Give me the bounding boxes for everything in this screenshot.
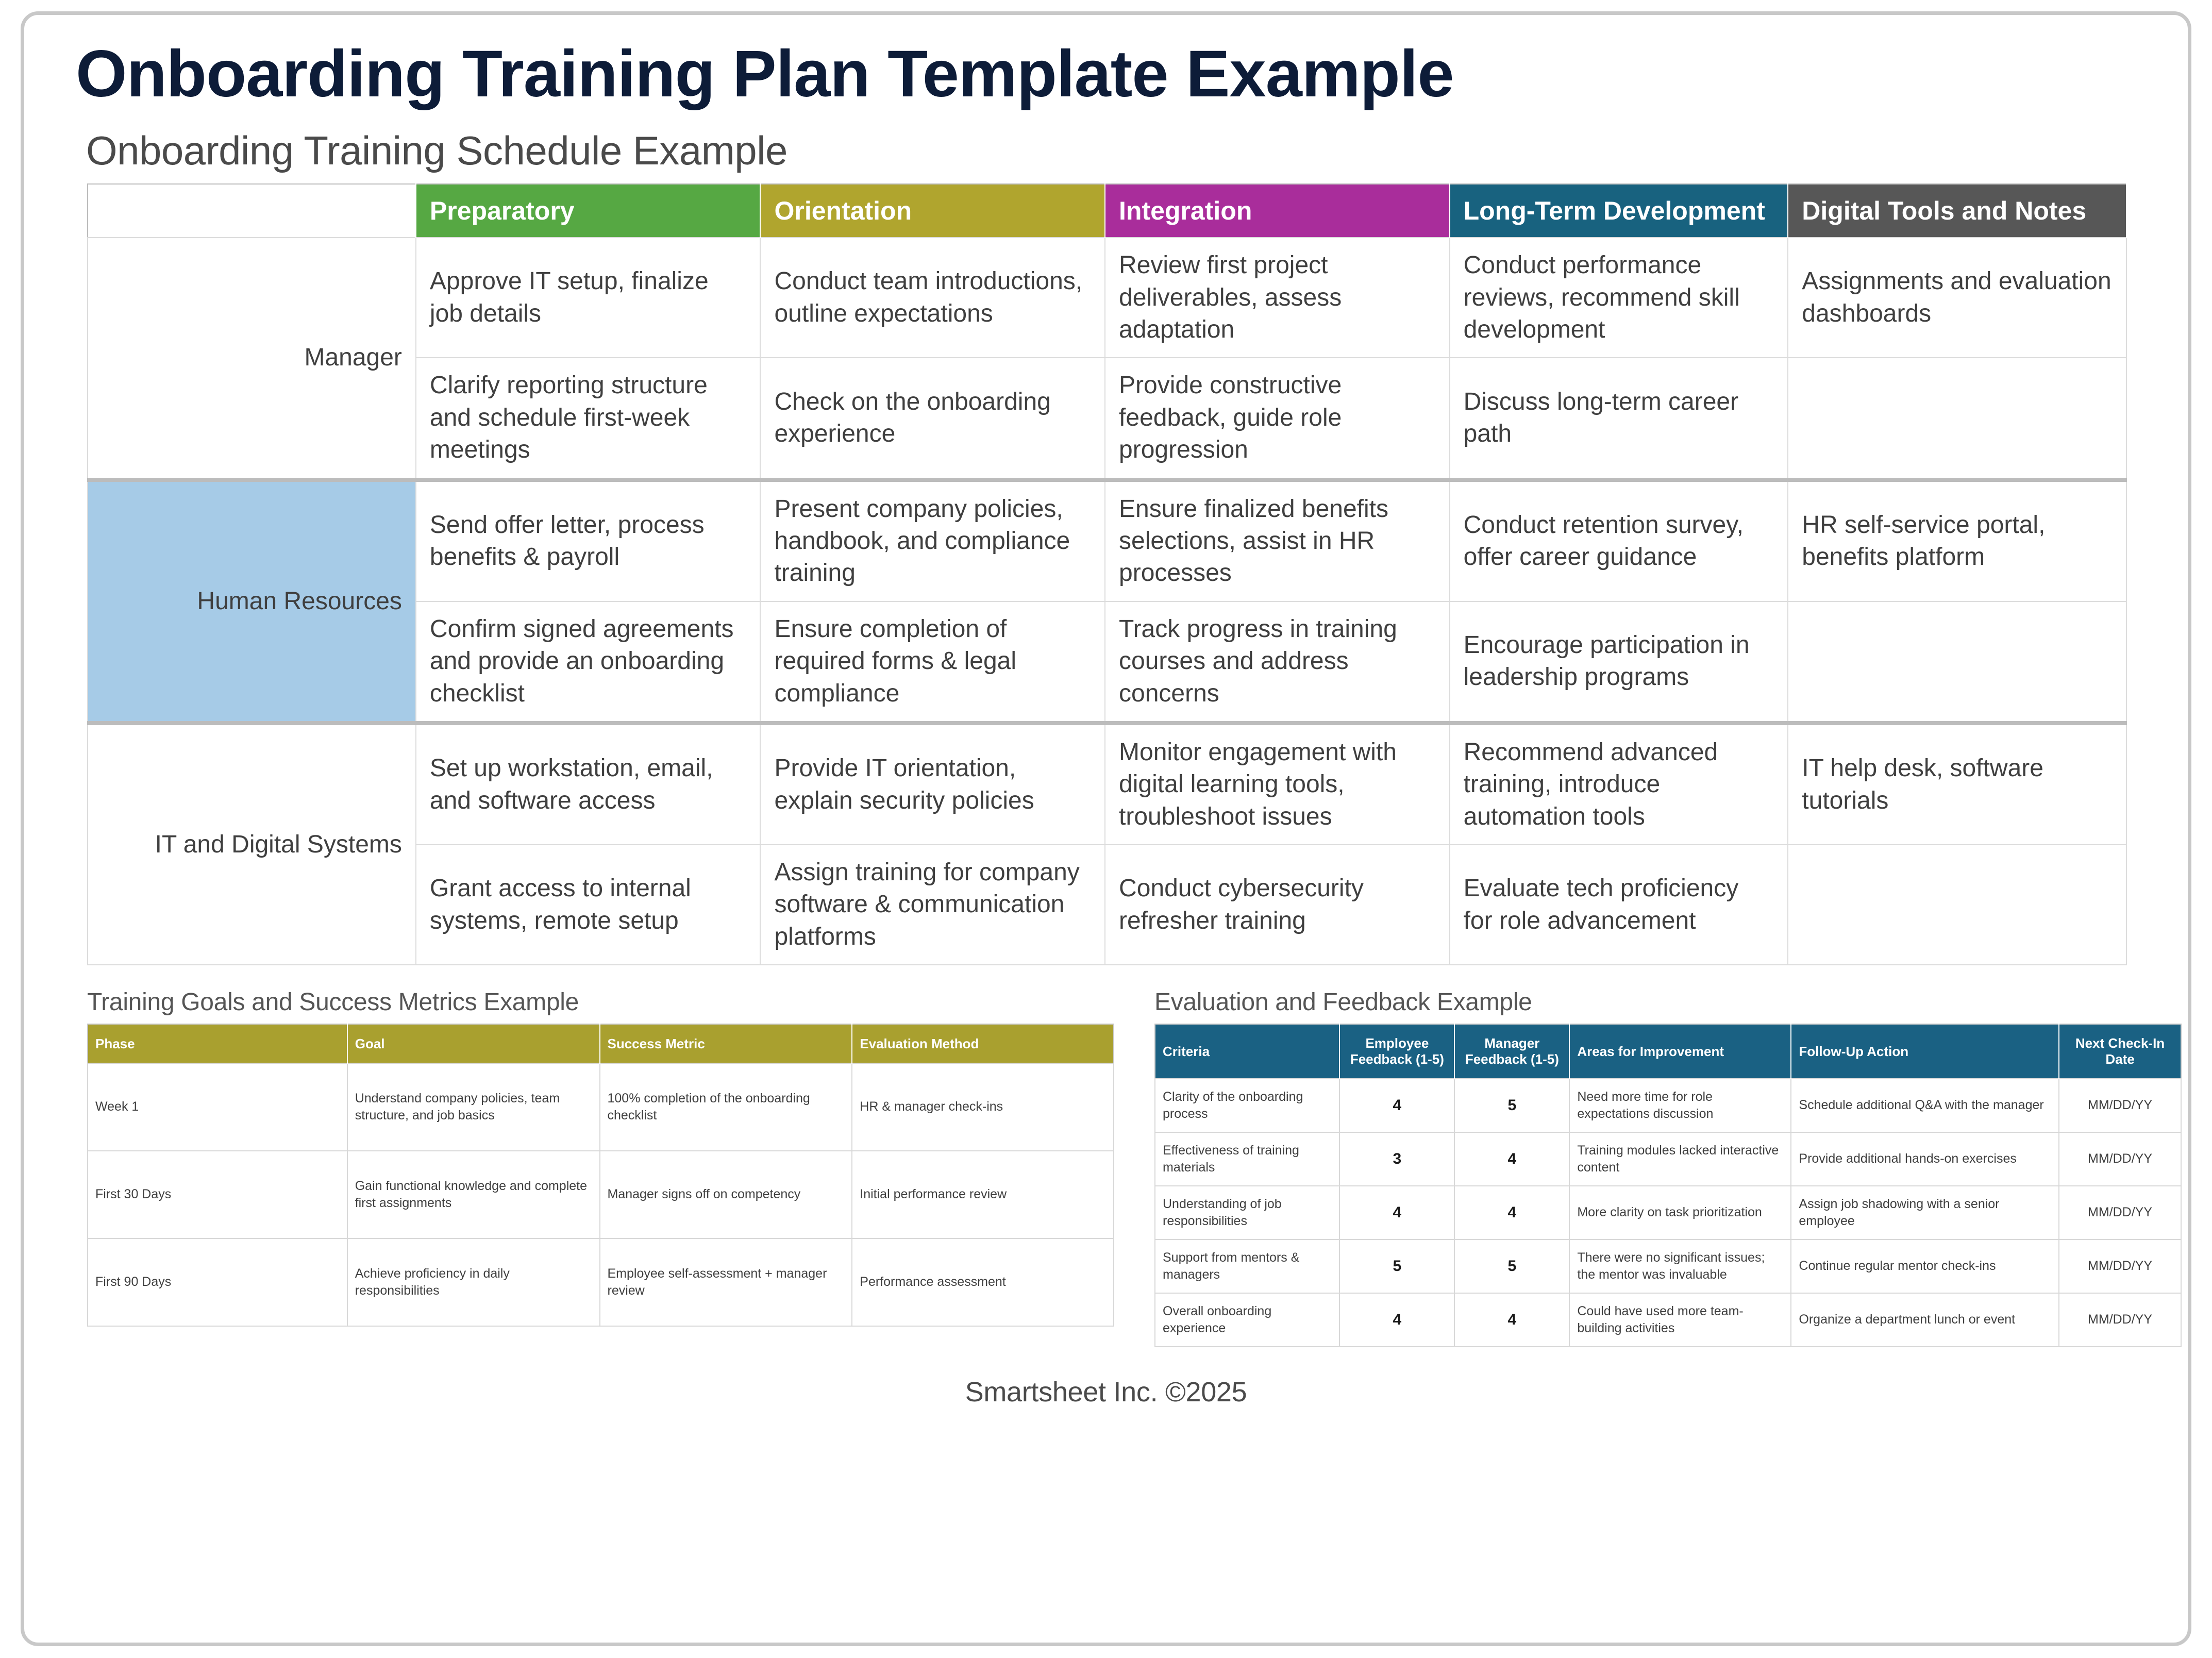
table-row: Week 1 Understand company policies, team…: [88, 1063, 1114, 1151]
cell-method: Performance assessment: [852, 1238, 1114, 1326]
column-header-process: Process / Monitor: [88, 184, 416, 238]
column-header-phase: Phase: [88, 1024, 347, 1063]
cell-digital: [1788, 845, 2126, 965]
table-row: Effectiveness of training materials 3 4 …: [1155, 1132, 2181, 1186]
table-row: IT and Digital Systems Set up workstatio…: [88, 723, 2126, 845]
cell-digital: Assignments and evaluation dashboards: [1788, 238, 2126, 358]
cell-manager-score: 4: [1454, 1186, 1569, 1240]
cell-digital: [1788, 358, 2126, 479]
table-row: Human Resources Send offer letter, proce…: [88, 480, 2126, 601]
cell-integration: Track progress in training courses and a…: [1105, 601, 1450, 723]
table-row: First 90 Days Achieve proficiency in dai…: [88, 1238, 1114, 1326]
cell-orientation: Conduct team introductions, outline expe…: [760, 238, 1105, 358]
cell-criteria: Overall onboarding experience: [1155, 1293, 1339, 1347]
column-header-areas-for-improvement: Areas for Improvement: [1569, 1024, 1791, 1079]
column-header-manager-feedback: Manager Feedback (1-5): [1454, 1024, 1569, 1079]
table-row: Manager Approve IT setup, finalize job d…: [88, 238, 2126, 358]
cell-orientation: Check on the onboarding experience: [760, 358, 1105, 479]
cell-integration: Review first project deliverables, asses…: [1105, 238, 1450, 358]
training-goals-table: Phase Goal Success Metric Evaluation Met…: [87, 1024, 1114, 1327]
goals-header-row: Phase Goal Success Metric Evaluation Met…: [88, 1024, 1114, 1063]
cell-preparatory: Set up workstation, email, and software …: [416, 723, 761, 845]
cell-manager-score: 4: [1454, 1293, 1569, 1347]
cell-preparatory: Clarify reporting structure and schedule…: [416, 358, 761, 479]
column-header-integration: Integration: [1105, 184, 1450, 238]
cell-next-check-in-date: MM/DD/YY: [2059, 1240, 2181, 1293]
column-header-follow-up-action: Follow-Up Action: [1791, 1024, 2059, 1079]
evaluation-feedback-table: Criteria Employee Feedback (1-5) Manager…: [1154, 1024, 2182, 1347]
evaluation-caption: Evaluation and Feedback Example: [1154, 988, 2182, 1024]
cell-digital: IT help desk, software tutorials: [1788, 723, 2126, 845]
cell-orientation: Present company policies, handbook, and …: [760, 480, 1105, 601]
page-frame: Onboarding Training Plan Template Exampl…: [21, 11, 2191, 1646]
cell-phase: Week 1: [88, 1063, 347, 1151]
cell-employee-score: 4: [1339, 1186, 1454, 1240]
schedule-table-wrapper: Process / Monitor Preparatory Orientatio…: [50, 183, 2162, 965]
cell-manager-score: 4: [1454, 1132, 1569, 1186]
cell-long-term: Discuss long-term career path: [1450, 358, 1788, 479]
cell-criteria: Understanding of job responsibilities: [1155, 1186, 1339, 1240]
cell-integration: Provide constructive feedback, guide rol…: [1105, 358, 1450, 479]
cell-goal: Achieve proficiency in daily responsibil…: [347, 1238, 600, 1326]
column-header-criteria: Criteria: [1155, 1024, 1339, 1079]
cell-long-term: Encourage participation in leadership pr…: [1450, 601, 1788, 723]
cell-method: HR & manager check-ins: [852, 1063, 1114, 1151]
cell-improvement: Training modules lacked interactive cont…: [1569, 1132, 1791, 1186]
table-row: Support from mentors & managers 5 5 Ther…: [1155, 1240, 2181, 1293]
cell-next-check-in-date: MM/DD/YY: [2059, 1186, 2181, 1240]
cell-goal: Understand company policies, team struct…: [347, 1063, 600, 1151]
cell-metric: 100% completion of the onboarding checkl…: [600, 1063, 852, 1151]
cell-improvement: More clarity on task prioritization: [1569, 1186, 1791, 1240]
cell-goal: Gain functional knowledge and complete f…: [347, 1151, 600, 1238]
group-label-manager: Manager: [88, 238, 416, 479]
table-row: Overall onboarding experience 4 4 Could …: [1155, 1293, 2181, 1347]
column-header-orientation: Orientation: [760, 184, 1105, 238]
cell-phase: First 30 Days: [88, 1151, 347, 1238]
cell-digital: HR self-service portal, benefits platfor…: [1788, 480, 2126, 601]
cell-employee-score: 4: [1339, 1293, 1454, 1347]
schedule-header-row: Process / Monitor Preparatory Orientatio…: [88, 184, 2126, 238]
cell-preparatory: Confirm signed agreements and provide an…: [416, 601, 761, 723]
page-content: Onboarding Training Plan Template Exampl…: [24, 15, 2188, 1643]
cell-followup: Schedule additional Q&A with the manager: [1791, 1079, 2059, 1132]
cell-orientation: Provide IT orientation, explain security…: [760, 723, 1105, 845]
footer-copyright: Smartsheet Inc. ©2025: [50, 1347, 2162, 1408]
cell-next-check-in-date: MM/DD/YY: [2059, 1132, 2181, 1186]
cell-next-check-in-date: MM/DD/YY: [2059, 1293, 2181, 1347]
onboarding-schedule-table: Process / Monitor Preparatory Orientatio…: [87, 183, 2127, 965]
group-label-it-and-digital-systems: IT and Digital Systems: [88, 723, 416, 965]
cell-followup: Provide additional hands-on exercises: [1791, 1132, 2059, 1186]
column-header-evaluation-method: Evaluation Method: [852, 1024, 1114, 1063]
cell-criteria: Clarity of the onboarding process: [1155, 1079, 1339, 1132]
goals-caption: Training Goals and Success Metrics Examp…: [87, 988, 1114, 1024]
cell-long-term: Conduct retention survey, offer career g…: [1450, 480, 1788, 601]
evaluation-feedback-section: Evaluation and Feedback Example Criteria…: [1154, 988, 2182, 1347]
cell-preparatory: Approve IT setup, finalize job details: [416, 238, 761, 358]
cell-long-term: Evaluate tech proficiency for role advan…: [1450, 845, 1788, 965]
cell-employee-score: 4: [1339, 1079, 1454, 1132]
cell-improvement: There were no significant issues; the me…: [1569, 1240, 1791, 1293]
cell-method: Initial performance review: [852, 1151, 1114, 1238]
cell-manager-score: 5: [1454, 1079, 1569, 1132]
cell-followup: Organize a department lunch or event: [1791, 1293, 2059, 1347]
cell-improvement: Need more time for role expectations dis…: [1569, 1079, 1791, 1132]
cell-integration: Conduct cybersecurity refresher training: [1105, 845, 1450, 965]
column-header-goal: Goal: [347, 1024, 600, 1063]
cell-digital: [1788, 601, 2126, 723]
group-label-human-resources: Human Resources: [88, 480, 416, 723]
schedule-caption: Onboarding Training Schedule Example: [50, 110, 2162, 183]
cell-long-term: Conduct performance reviews, recommend s…: [1450, 238, 1788, 358]
table-row: First 30 Days Gain functional knowledge …: [88, 1151, 1114, 1238]
cell-integration: Monitor engagement with digital learning…: [1105, 723, 1450, 845]
bottom-tables-row: Training Goals and Success Metrics Examp…: [50, 965, 2162, 1347]
cell-improvement: Could have used more team-building activ…: [1569, 1293, 1791, 1347]
cell-followup: Assign job shadowing with a senior emplo…: [1791, 1186, 2059, 1240]
cell-phase: First 90 Days: [88, 1238, 347, 1326]
cell-preparatory: Grant access to internal systems, remote…: [416, 845, 761, 965]
cell-criteria: Effectiveness of training materials: [1155, 1132, 1339, 1186]
evaluation-header-row: Criteria Employee Feedback (1-5) Manager…: [1155, 1024, 2181, 1079]
column-header-next-check-in-date: Next Check-In Date: [2059, 1024, 2181, 1079]
cell-metric: Employee self-assessment + manager revie…: [600, 1238, 852, 1326]
cell-orientation: Ensure completion of required forms & le…: [760, 601, 1105, 723]
cell-employee-score: 3: [1339, 1132, 1454, 1186]
cell-long-term: Recommend advanced training, introduce a…: [1450, 723, 1788, 845]
column-header-success-metric: Success Metric: [600, 1024, 852, 1063]
cell-manager-score: 5: [1454, 1240, 1569, 1293]
table-row: Clarity of the onboarding process 4 5 Ne…: [1155, 1079, 2181, 1132]
cell-criteria: Support from mentors & managers: [1155, 1240, 1339, 1293]
cell-integration: Ensure finalized benefits selections, as…: [1105, 480, 1450, 601]
training-goals-section: Training Goals and Success Metrics Examp…: [87, 988, 1114, 1327]
cell-next-check-in-date: MM/DD/YY: [2059, 1079, 2181, 1132]
column-header-employee-feedback: Employee Feedback (1-5): [1339, 1024, 1454, 1079]
cell-preparatory: Send offer letter, process benefits & pa…: [416, 480, 761, 601]
cell-employee-score: 5: [1339, 1240, 1454, 1293]
column-header-digital-tools-and-notes: Digital Tools and Notes: [1788, 184, 2126, 238]
page-title: Onboarding Training Plan Template Exampl…: [50, 29, 2162, 110]
cell-followup: Continue regular mentor check-ins: [1791, 1240, 2059, 1293]
column-header-preparatory: Preparatory: [416, 184, 761, 238]
column-header-long-term-development: Long-Term Development: [1450, 184, 1788, 238]
cell-metric: Manager signs off on competency: [600, 1151, 852, 1238]
table-row: Understanding of job responsibilities 4 …: [1155, 1186, 2181, 1240]
cell-orientation: Assign training for company software & c…: [760, 845, 1105, 965]
